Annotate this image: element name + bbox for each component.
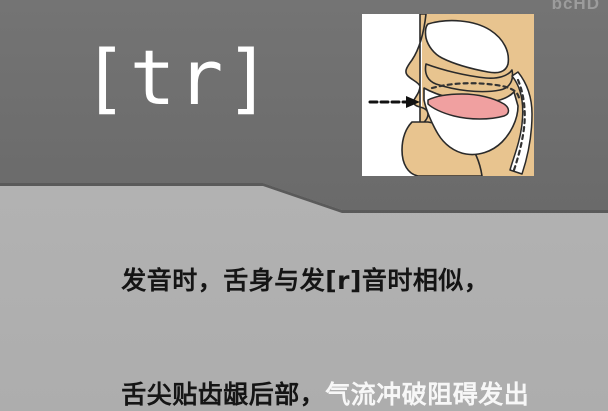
mouth-cross-section-icon [362, 14, 534, 176]
description-line-1-text: 发音时，舌身与发[r]音时相似， [121, 266, 489, 295]
phonetic-symbol: [tr] [82, 40, 273, 116]
description-line-1: 发音时，舌身与发[r]音时相似， [66, 224, 556, 338]
watermark-logo: bcHD [552, 0, 600, 14]
articulation-diagram [362, 14, 534, 176]
description-text: 发音时，舌身与发[r]音时相似， 舌尖贴齿龈后部，气流冲破阻碍发出 短促的[t]… [66, 224, 556, 411]
description-line-2-dark: 舌尖贴齿龈后部， [121, 380, 325, 409]
description-line-2: 舌尖贴齿龈后部，气流冲破阻碍发出 [66, 338, 556, 411]
slide-screen: bcHD [tr] [0, 0, 608, 411]
description-line-2-highlight: 气流冲破阻碍发出 [325, 380, 529, 409]
